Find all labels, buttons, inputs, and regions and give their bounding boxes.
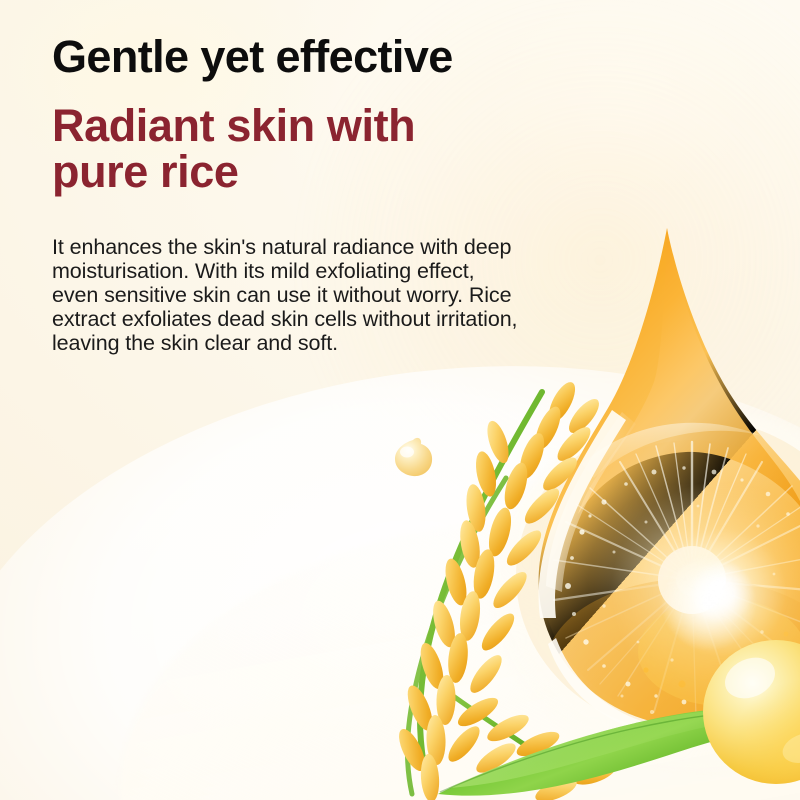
kicker-text: Gentle yet effective <box>52 34 552 81</box>
product-banner: Gentle yet effective Radiant skin with p… <box>0 0 800 800</box>
golden-sphere <box>700 636 800 786</box>
body-paragraph: It enhances the skin's natural radiance … <box>52 235 522 355</box>
copy-block: Gentle yet effective Radiant skin with p… <box>52 34 552 355</box>
page-title: Radiant skin with pure rice <box>52 103 482 195</box>
golden-bead <box>392 436 436 478</box>
